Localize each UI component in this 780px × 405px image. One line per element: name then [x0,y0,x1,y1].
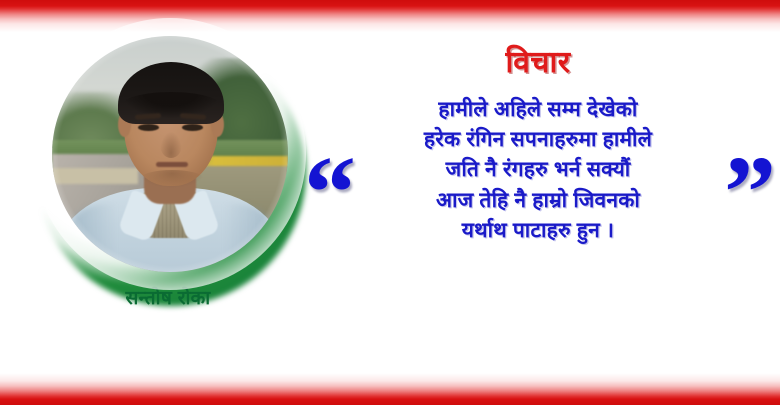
portrait-name-label: सन्तोष रोका [22,284,314,310]
quote-line: जति नै रंगहरु भर्न सक्यौं [312,155,764,185]
photo-wall [52,168,138,184]
portrait-photo [52,36,288,272]
portrait-block: सन्तोष रोका [22,28,314,338]
bottom-red-border [0,371,780,405]
quote-line: यर्थाथ पाटाहरु हुन । [312,216,764,246]
photo-mouth [156,162,188,167]
photo-nose [160,132,182,158]
quote-line: हामीले अहिले सम्म देखेको [312,95,764,125]
open-quote-icon: “ [304,164,348,222]
quote-card: सन्तोष रोका विचार “ ” हामीले अहिले सम्म … [0,0,780,405]
quote-line: हरेक रंगिन सपनाहरुमा हामीले [312,125,764,155]
close-quote-icon: ” [724,164,768,222]
quote-block: विचार “ ” हामीले अहिले सम्म देखेको हरेक … [312,36,764,306]
photo-chin-shadow [140,170,204,188]
photo-eye-right [182,124,203,131]
quote-title: विचार [312,46,764,79]
photo-eye-left [138,124,159,131]
portrait-frame [52,36,288,272]
quote-line: आज तेहि नै हाम्रो जिवनको [312,186,764,216]
quote-text: हामीले अहिले सम्म देखेको हरेक रंगिन सपना… [312,95,764,246]
